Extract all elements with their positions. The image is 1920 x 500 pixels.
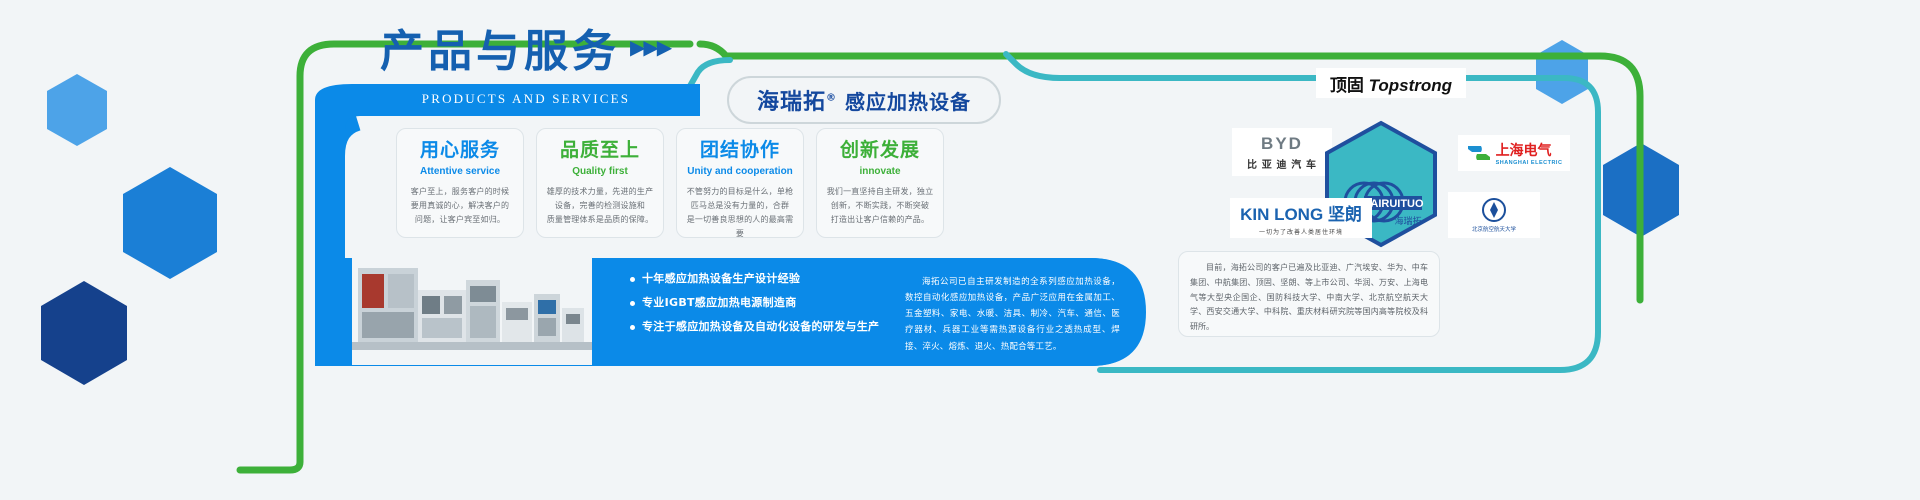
brand-tagline: 感应加热设备 [845, 86, 971, 115]
poster-canvas: 产品与服务▶▶▶ PRODUCTS AND SERVICES 海瑞拓® 感应加热… [0, 0, 1920, 500]
card-attentive-service[interactable]: 用心服务 Attentive service 客户至上，服务客户的时候 要用真诚… [396, 128, 524, 238]
card-body-line: 要用真诚的心，解决客户的 [411, 199, 509, 213]
card-body: 客户至上，服务客户的时候 要用真诚的心，解决客户的 问题，让客户宾至如归。 [411, 185, 509, 227]
card-body-line: 客户至上，服务客户的时候 [411, 185, 509, 199]
logo-byd: BYD 比 亚 迪 汽 车 [1232, 128, 1332, 176]
card-body: 我们一直坚持自主研发，独立 创新，不断实践，不断突破 打造出让客户信赖的产品。 [827, 185, 934, 227]
card-body-line: 我们一直坚持自主研发，独立 [827, 185, 934, 199]
card-body-line: 问题，让客户宾至如归。 [411, 213, 509, 227]
card-title-en: Unity and cooperation [687, 166, 793, 177]
logo-kinlong-cn: 坚朗 [1328, 205, 1362, 224]
card-title-cn: 团结协作 [700, 141, 780, 160]
brand-name-cn: 海瑞拓® [757, 84, 837, 116]
card-quality-first[interactable]: 品质至上 Quality first 雄厚的技术力量，先进的生产 设备，完善的检… [536, 128, 664, 238]
logo-shanghai-electric: 上海电气 SHANGHAI ELECTRIC [1458, 135, 1570, 171]
card-title-en: Attentive service [420, 166, 500, 177]
band-shape [0, 0, 1920, 500]
bullet-dot-icon [630, 325, 635, 330]
hexagon-decor-3 [36, 278, 132, 388]
hexagon-decor-4 [1598, 140, 1684, 240]
logo-beihang: 北京航空航天大学 [1448, 192, 1540, 238]
page-title: 产品与服务▶▶▶ [380, 30, 670, 74]
card-title-en: Quality first [572, 166, 628, 177]
beihang-crest-icon [1481, 197, 1507, 223]
title-subtitle-bar: PRODUCTS AND SERVICES [352, 84, 700, 114]
card-body-line: 设备，完善的检测设施和 [547, 199, 654, 213]
card-body-line: 是一切善良思想的人的最高需要 [685, 213, 795, 241]
frame-outline [0, 0, 1920, 500]
logo-kinlong-en: KIN LONG [1240, 205, 1323, 224]
card-body-line: 匹马总是没有力量的，合群 [685, 199, 795, 213]
card-title-cn: 用心服务 [420, 141, 500, 160]
logo-topstrong: 顶固 Topstrong [1316, 68, 1466, 98]
card-title-cn: 品质至上 [560, 141, 640, 160]
bullet-dot-icon [630, 277, 635, 282]
band-description: 海拓公司已自主研发制造的全系列感应加热设备，数控自动化感应加热设备，产品广泛应用… [905, 274, 1120, 355]
feature-bullet-item: 专注于感应加热设备及自动化设备的研发与生产 [630, 320, 890, 335]
card-body-line: 雄厚的技术力量，先进的生产 [547, 185, 654, 199]
card-body: 不管努力的目标是什么，单枪 匹马总是没有力量的，合群 是一切善良思想的人的最高需… [685, 185, 795, 241]
card-body: 雄厚的技术力量，先进的生产 设备，完善的检测设施和 质量管理体系是品质的保障。 [547, 185, 654, 227]
hexagon-decor-2 [118, 164, 222, 282]
hexagon-decor-1 [44, 72, 110, 148]
band-content: 十年感应加热设备生产设计经验 专业IGBT感应加热电源制造商 专注于感应加热设备… [330, 256, 1145, 366]
svg-text:海瑞拓: 海瑞拓 [1394, 215, 1421, 227]
logo-topstrong-cn: 顶固 [1330, 76, 1364, 95]
registered-mark-icon: ® [826, 93, 837, 104]
page-title-en: PRODUCTS AND SERVICES [422, 91, 630, 107]
logo-topstrong-en: Topstrong [1369, 76, 1452, 95]
feature-bullet-item: 专业IGBT感应加热电源制造商 [630, 296, 890, 311]
logo-shanghai-electric-cn: 上海电气 [1496, 140, 1563, 160]
logo-kinlong-slogan: 一切为了改善人类居住环境 [1259, 227, 1343, 236]
logo-beihang-cn: 北京航空航天大学 [1472, 225, 1516, 233]
clients-summary: 目前，海拓公司的客户已遍及比亚迪、广汽埃安、华为、中车集团、中航集团、顶固、坚朗… [1178, 251, 1440, 337]
card-body-line: 创新，不断实践，不断突破 [827, 199, 934, 213]
card-body-line: 打造出让客户信赖的产品。 [827, 213, 934, 227]
bullet-dot-icon [630, 301, 635, 306]
card-body-line: 不管努力的目标是什么，单枪 [685, 185, 795, 199]
card-title-cn: 创新发展 [840, 141, 920, 160]
page-title-cn: 产品与服务 [380, 26, 620, 77]
feature-bullet-label: 专注于感应加热设备及自动化设备的研发与生产 [642, 320, 879, 335]
clients-paragraph: 目前，海拓公司的客户已遍及比亚迪、广汽埃安、华为、中车集团、中航集团、顶固、坚朗… [1190, 261, 1428, 335]
shanghai-electric-mark-icon [1466, 142, 1492, 164]
feature-bullet-label: 十年感应加热设备生产设计经验 [642, 272, 800, 287]
card-body-line: 质量管理体系是品质的保障。 [547, 213, 654, 227]
card-title-en: innovate [859, 166, 900, 177]
feature-bullet-label: 专业IGBT感应加热电源制造商 [642, 296, 797, 311]
hexagon-decor-5 [1533, 38, 1591, 106]
feature-bullets: 十年感应加热设备生产设计经验 专业IGBT感应加热电源制造商 专注于感应加热设备… [630, 272, 890, 344]
triple-chevron-right-icon: ▶▶▶ [630, 35, 670, 60]
card-innovate[interactable]: 创新发展 innovate 我们一直坚持自主研发，独立 创新，不断实践，不断突破… [816, 128, 944, 238]
logo-byd-en: BYD [1261, 134, 1303, 154]
value-cards: 用心服务 Attentive service 客户至上，服务客户的时候 要用真诚… [396, 128, 944, 238]
card-unity-cooperation[interactable]: 团结协作 Unity and cooperation 不管努力的目标是什么，单枪… [676, 128, 804, 238]
feature-bullet-item: 十年感应加热设备生产设计经验 [630, 272, 890, 287]
logo-shanghai-electric-en: SHANGHAI ELECTRIC [1496, 160, 1563, 166]
brand-badge: 海瑞拓® 感应加热设备 [727, 76, 1001, 124]
logo-kinlong: KIN LONG 坚朗 一切为了改善人类居住环境 [1230, 198, 1372, 238]
logo-byd-cn: 比 亚 迪 汽 车 [1247, 156, 1317, 171]
